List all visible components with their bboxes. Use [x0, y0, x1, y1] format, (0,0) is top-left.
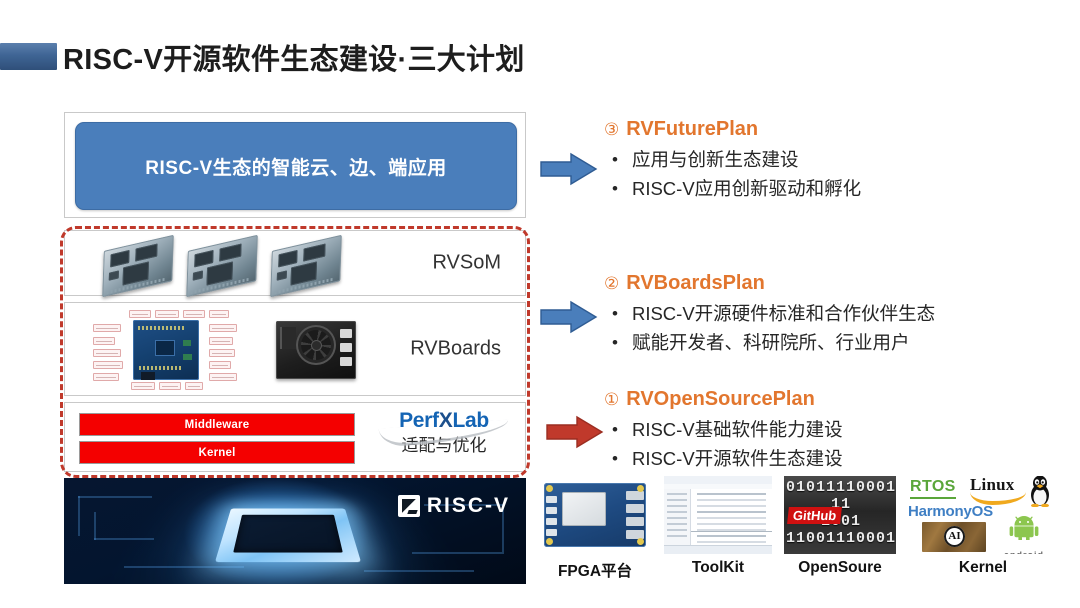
icon-cell-toolkit: ToolKit — [664, 476, 772, 577]
icon-cell-kernel: RTOS Linux HarmonyOS AI — [908, 476, 1058, 577]
applications-box: RISC-V生态的智能云、边、端应用 — [75, 122, 517, 210]
ai-logo-text: AI — [944, 526, 965, 547]
riscv-mark-icon — [398, 495, 420, 517]
plan-block-rvfutureplan: ③ RVFuturePlan • 应用与创新生态建设 • RISC-V应用创新驱… — [604, 118, 1056, 203]
rvsom-panel: RVSoM — [64, 230, 526, 296]
plan-name: RVBoardsPlan — [626, 272, 765, 295]
perfxlab-subtitle: 适配与优化 — [371, 433, 517, 459]
toolkit-screenshot-image — [664, 476, 772, 554]
ai-logo: AI — [922, 522, 986, 552]
title-accent-bar — [0, 43, 57, 70]
plan-heading: ① RVOpenSourcePlan — [604, 388, 1056, 411]
middleware-bar: Middleware — [79, 413, 355, 436]
kernel-logos-image: RTOS Linux HarmonyOS AI — [908, 476, 1058, 554]
plan-bullet: • RISC-V开源软件生态建设 — [604, 444, 1056, 473]
arrow-right-red-icon — [546, 415, 604, 449]
harmonyos-logo: HarmonyOS — [908, 503, 993, 520]
som-module-image — [102, 235, 174, 298]
plan-bullet: • RISC-V应用创新驱动和孵化 — [604, 174, 1056, 203]
icon-cell-opensource: 01011110001 11 1001 11001110001 GitHub O… — [784, 476, 896, 577]
bullet-icon: • — [612, 328, 618, 357]
plan-bullet: • 应用与创新生态建设 — [604, 145, 1056, 174]
android-logo: android — [998, 516, 1050, 554]
perfxlab-logo-x: X — [439, 409, 453, 432]
fan-board-image — [270, 313, 362, 387]
plan-number: ① — [604, 390, 619, 410]
plan-block-rvboardsplan: ② RVBoardsPlan • RISC-V开源硬件标准和合作伙伴生态 • 赋… — [604, 272, 1056, 357]
perfxlab-block: PerfXLab 适配与优化 — [371, 409, 517, 467]
rvboards-panel: RVBoards — [64, 302, 526, 396]
rvboards-label: RVBoards — [410, 338, 501, 361]
ecosystem-icon-strip: FPGA平台 ToolKit 01011110001 11 1001 11001… — [536, 476, 1056, 588]
github-tag: GitHub — [787, 507, 842, 524]
plan-bullet-text: RISC-V开源软件生态建设 — [632, 444, 843, 473]
linux-penguin-icon — [1026, 476, 1054, 507]
opensource-binary-image: 01011110001 11 1001 11001110001 GitHub — [784, 476, 896, 554]
som-module-image — [186, 235, 258, 298]
software-stack-panel: Middleware Kernel PerfXLab 适配与优化 — [64, 402, 526, 472]
icon-caption: FPGA平台 — [536, 559, 654, 581]
icon-caption: Kernel — [908, 559, 1058, 577]
applications-panel: RISC-V生态的智能云、边、端应用 — [64, 112, 526, 218]
riscv-logo: RISC-V — [398, 494, 510, 518]
dev-board-image — [91, 310, 241, 390]
binary-line: 11001110001 — [786, 530, 896, 547]
icon-caption: OpenSoure — [784, 559, 896, 577]
plan-bullet-text: 应用与创新生态建设 — [632, 145, 799, 174]
plan-bullet-text: RISC-V应用创新驱动和孵化 — [632, 174, 861, 203]
architecture-stack: RISC-V生态的智能云、边、端应用 RVSoM — [64, 112, 526, 584]
bullet-icon: • — [612, 145, 618, 174]
riscv-logo-text: RISC-V — [427, 494, 510, 518]
plan-bullet: • 赋能开发者、科研院所、行业用户 — [604, 328, 1056, 357]
rvsom-label: RVSoM — [432, 252, 501, 275]
riscv-chip-image: RISC-V — [64, 478, 526, 584]
icon-caption: ToolKit — [664, 559, 772, 577]
plan-bullet-text: 赋能开发者、科研院所、行业用户 — [632, 328, 910, 357]
plan-name: RVFuturePlan — [626, 118, 758, 141]
bullet-icon: • — [612, 299, 618, 328]
android-logo-text: android — [1004, 550, 1044, 554]
kernel-bar: Kernel — [79, 441, 355, 464]
plan-number: ② — [604, 274, 619, 294]
icon-cell-fpga: FPGA平台 — [536, 476, 654, 581]
plan-block-rvopensourceplan: ① RVOpenSourcePlan • RISC-V基础软件能力建设 • RI… — [604, 388, 1056, 473]
perfxlab-logo: PerfXLab — [371, 409, 517, 433]
bullet-icon: • — [612, 174, 618, 203]
bullet-icon: • — [612, 415, 618, 444]
som-module-image — [270, 235, 342, 298]
plan-name: RVOpenSourcePlan — [626, 388, 815, 411]
chip-die — [215, 509, 361, 563]
perfxlab-logo-post: Lab — [452, 409, 488, 432]
bullet-icon: • — [612, 444, 618, 473]
arrow-right-blue-icon — [540, 300, 598, 334]
rtos-logo: RTOS — [910, 478, 956, 499]
plan-heading: ③ RVFuturePlan — [604, 118, 1056, 141]
plan-heading: ② RVBoardsPlan — [604, 272, 1056, 295]
binary-line: 01011110001 — [786, 479, 896, 496]
plan-number: ③ — [604, 120, 619, 140]
arrow-right-blue-icon — [540, 152, 598, 186]
perfxlab-logo-pre: Perf — [399, 409, 439, 432]
android-robot-icon — [1004, 516, 1044, 540]
plan-bullet-text: RISC-V开源硬件标准和合作伙伴生态 — [632, 299, 935, 328]
fpga-board-image — [536, 476, 654, 554]
plan-bullet: • RISC-V开源硬件标准和合作伙伴生态 — [604, 299, 1056, 328]
page-title: RISC-V开源软件生态建设·三大计划 — [63, 36, 525, 78]
plan-bullet-text: RISC-V基础软件能力建设 — [632, 415, 843, 444]
plan-bullet: • RISC-V基础软件能力建设 — [604, 415, 1056, 444]
